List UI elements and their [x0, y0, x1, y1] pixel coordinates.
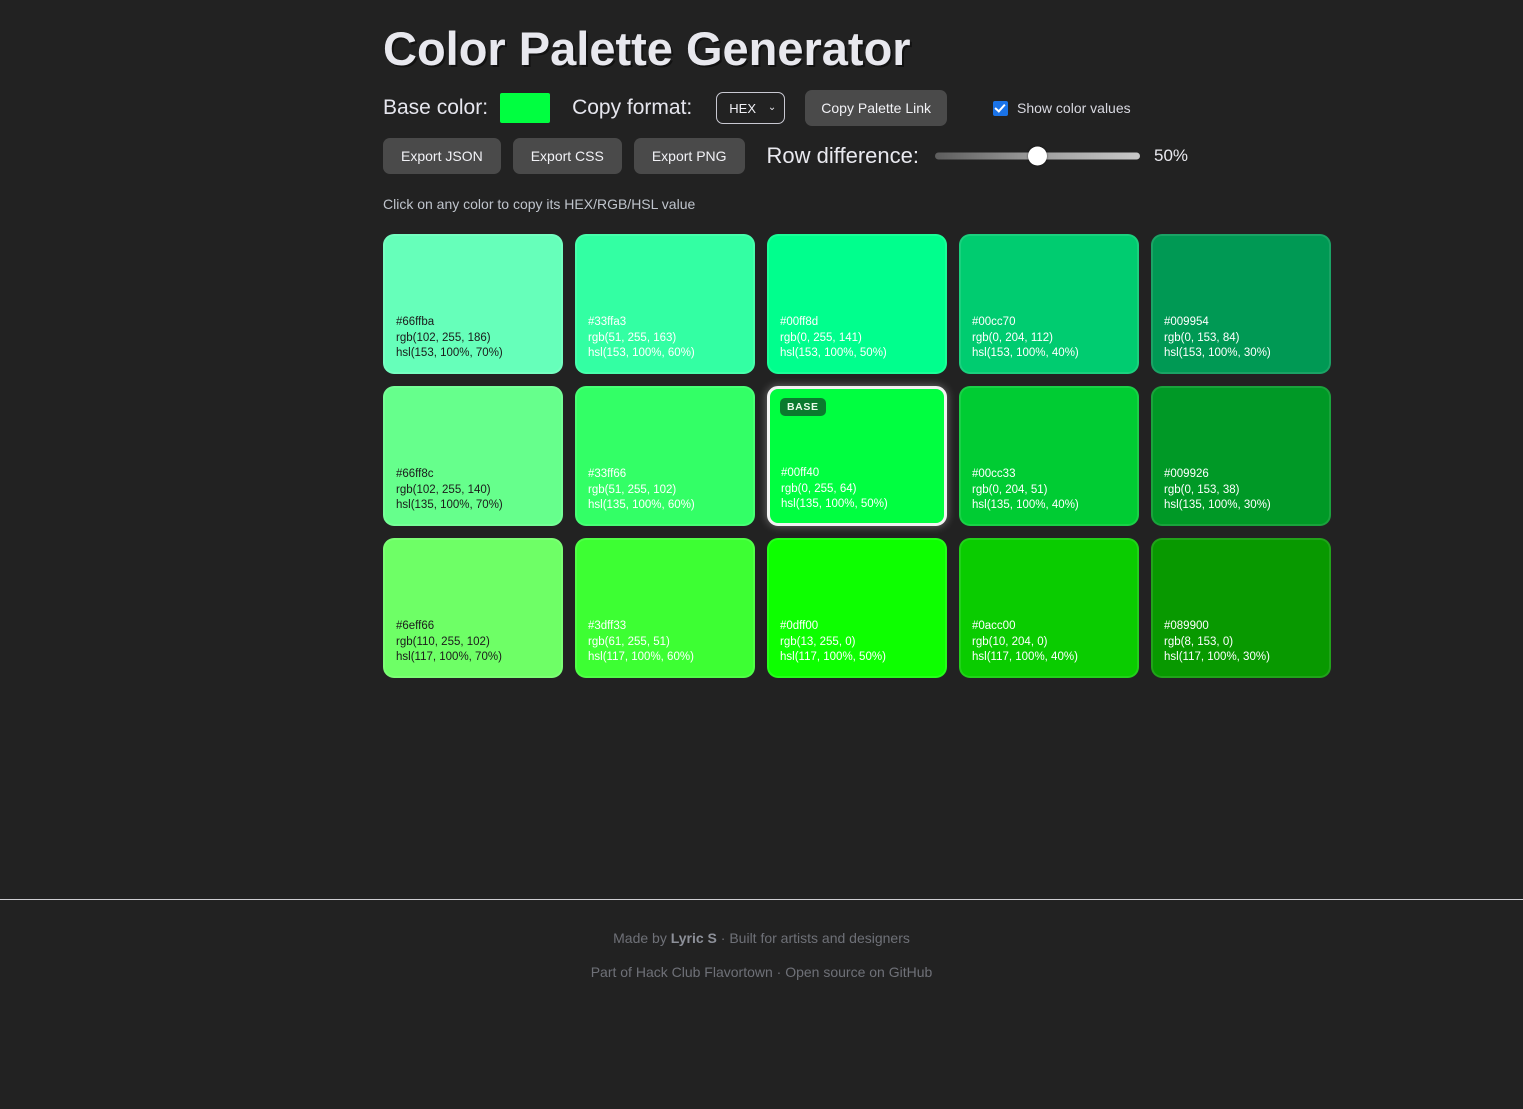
- swatch-hex-value: #33ffa3: [588, 315, 742, 331]
- swatch-values: #00cc70rgb(0, 204, 112)hsl(153, 100%, 40…: [972, 315, 1126, 362]
- swatch-rgb-value: rgb(0, 255, 141): [780, 331, 934, 347]
- swatch-rgb-value: rgb(0, 204, 112): [972, 331, 1126, 347]
- swatch-values: #0dff00rgb(13, 255, 0)hsl(117, 100%, 50%…: [780, 619, 934, 666]
- footer-divider: [0, 899, 1523, 900]
- color-swatch[interactable]: #0acc00rgb(10, 204, 0)hsl(117, 100%, 40%…: [959, 538, 1139, 678]
- show-color-values-group[interactable]: Show color values: [993, 100, 1131, 116]
- swatch-values: #009954rgb(0, 153, 84)hsl(153, 100%, 30%…: [1164, 315, 1318, 362]
- copy-palette-link-button[interactable]: Copy Palette Link: [805, 90, 947, 126]
- swatch-values: #3dff33rgb(61, 255, 51)hsl(117, 100%, 60…: [588, 619, 742, 666]
- swatch-values: #66ffbargb(102, 255, 186)hsl(153, 100%, …: [396, 315, 550, 362]
- swatch-rgb-value: rgb(10, 204, 0): [972, 635, 1126, 651]
- swatch-hsl-value: hsl(117, 100%, 60%): [588, 650, 742, 666]
- swatch-hex-value: #66ff8c: [396, 467, 550, 483]
- controls-row-primary: Base color: Copy format: HEXRGBHSL ⌄ Cop…: [383, 90, 1523, 126]
- swatch-hsl-value: hsl(117, 100%, 30%): [1164, 650, 1318, 666]
- swatch-hex-value: #6eff66: [396, 619, 550, 635]
- swatch-hsl-value: hsl(153, 100%, 60%): [588, 346, 742, 362]
- base-color-picker[interactable]: [500, 93, 550, 123]
- swatch-hex-value: #00cc70: [972, 315, 1126, 331]
- swatch-hex-value: #00cc33: [972, 467, 1126, 483]
- copy-format-select[interactable]: HEXRGBHSL: [716, 92, 785, 124]
- color-swatch[interactable]: #33ffa3rgb(51, 255, 163)hsl(153, 100%, 6…: [575, 234, 755, 374]
- swatch-values: #66ff8crgb(102, 255, 140)hsl(135, 100%, …: [396, 467, 550, 514]
- show-color-values-checkbox[interactable]: [993, 101, 1008, 116]
- footer-author: Lyric S: [671, 930, 717, 946]
- swatch-hsl-value: hsl(153, 100%, 70%): [396, 346, 550, 362]
- row-difference-slider[interactable]: [935, 145, 1140, 167]
- copy-format-label: Copy format:: [572, 96, 692, 120]
- swatch-values: #6eff66rgb(110, 255, 102)hsl(117, 100%, …: [396, 619, 550, 666]
- swatch-values: #33ffa3rgb(51, 255, 163)hsl(153, 100%, 6…: [588, 315, 742, 362]
- swatch-hsl-value: hsl(117, 100%, 40%): [972, 650, 1126, 666]
- footer-project-line: Part of Hack Club Flavortown · Open sour…: [0, 964, 1523, 980]
- color-swatch[interactable]: #00cc70rgb(0, 204, 112)hsl(153, 100%, 40…: [959, 234, 1139, 374]
- swatch-hsl-value: hsl(135, 100%, 50%): [781, 497, 933, 513]
- footer-credit-prefix: Made by: [613, 930, 671, 946]
- swatch-rgb-value: rgb(102, 255, 186): [396, 331, 550, 347]
- swatch-values: #33ff66rgb(51, 255, 102)hsl(135, 100%, 6…: [588, 467, 742, 514]
- color-swatch[interactable]: #0dff00rgb(13, 255, 0)hsl(117, 100%, 50%…: [767, 538, 947, 678]
- color-swatch[interactable]: #6eff66rgb(110, 255, 102)hsl(117, 100%, …: [383, 538, 563, 678]
- swatch-hsl-value: hsl(135, 100%, 60%): [588, 498, 742, 514]
- swatch-values: #009926rgb(0, 153, 38)hsl(135, 100%, 30%…: [1164, 467, 1318, 514]
- swatch-rgb-value: rgb(102, 255, 140): [396, 483, 550, 499]
- swatch-rgb-value: rgb(51, 255, 163): [588, 331, 742, 347]
- swatch-hsl-value: hsl(135, 100%, 40%): [972, 498, 1126, 514]
- swatch-values: #0acc00rgb(10, 204, 0)hsl(117, 100%, 40%…: [972, 619, 1126, 666]
- swatch-values: #00ff40rgb(0, 255, 64)hsl(135, 100%, 50%…: [781, 466, 933, 513]
- footer: Made by Lyric S · Built for artists and …: [0, 930, 1523, 998]
- color-swatch[interactable]: #00cc33rgb(0, 204, 51)hsl(135, 100%, 40%…: [959, 386, 1139, 526]
- base-badge: BASE: [780, 398, 826, 416]
- show-color-values-label: Show color values: [1017, 100, 1131, 116]
- app-root: Color Palette Generator Base color: Copy…: [0, 0, 1523, 1109]
- swatch-rgb-value: rgb(0, 153, 38): [1164, 483, 1318, 499]
- swatch-values: #089900rgb(8, 153, 0)hsl(117, 100%, 30%): [1164, 619, 1318, 666]
- color-swatch[interactable]: #33ff66rgb(51, 255, 102)hsl(135, 100%, 6…: [575, 386, 755, 526]
- swatch-hsl-value: hsl(153, 100%, 30%): [1164, 346, 1318, 362]
- swatch-hex-value: #009954: [1164, 315, 1318, 331]
- export-json-button[interactable]: Export JSON: [383, 138, 501, 174]
- export-css-button[interactable]: Export CSS: [513, 138, 622, 174]
- export-png-button[interactable]: Export PNG: [634, 138, 745, 174]
- swatch-hex-value: #33ff66: [588, 467, 742, 483]
- color-swatch[interactable]: #66ff8crgb(102, 255, 140)hsl(135, 100%, …: [383, 386, 563, 526]
- swatch-hex-value: #009926: [1164, 467, 1318, 483]
- swatch-hsl-value: hsl(135, 100%, 30%): [1164, 498, 1318, 514]
- swatch-hsl-value: hsl(153, 100%, 40%): [972, 346, 1126, 362]
- swatch-hsl-value: hsl(153, 100%, 50%): [780, 346, 934, 362]
- footer-credit-line: Made by Lyric S · Built for artists and …: [0, 930, 1523, 946]
- footer-credit-suffix: · Built for artists and designers: [717, 930, 910, 946]
- color-swatch[interactable]: #66ffbargb(102, 255, 186)hsl(153, 100%, …: [383, 234, 563, 374]
- color-swatch[interactable]: #089900rgb(8, 153, 0)hsl(117, 100%, 30%): [1151, 538, 1331, 678]
- swatch-rgb-value: rgb(110, 255, 102): [396, 635, 550, 651]
- color-swatch[interactable]: #009954rgb(0, 153, 84)hsl(153, 100%, 30%…: [1151, 234, 1331, 374]
- copy-format-select-wrap: HEXRGBHSL ⌄: [710, 92, 785, 124]
- swatch-rgb-value: rgb(51, 255, 102): [588, 483, 742, 499]
- swatch-hex-value: #66ffba: [396, 315, 550, 331]
- base-color-label: Base color:: [383, 96, 488, 120]
- swatch-hsl-value: hsl(135, 100%, 70%): [396, 498, 550, 514]
- swatch-hsl-value: hsl(117, 100%, 50%): [780, 650, 934, 666]
- swatch-values: #00cc33rgb(0, 204, 51)hsl(135, 100%, 40%…: [972, 467, 1126, 514]
- color-swatch[interactable]: #00ff8drgb(0, 255, 141)hsl(153, 100%, 50…: [767, 234, 947, 374]
- swatch-rgb-value: rgb(0, 204, 51): [972, 483, 1126, 499]
- swatch-rgb-value: rgb(61, 255, 51): [588, 635, 742, 651]
- page-title: Color Palette Generator: [383, 22, 1523, 76]
- copy-hint-text: Click on any color to copy its HEX/RGB/H…: [383, 196, 1523, 212]
- color-swatch[interactable]: BASE#00ff40rgb(0, 255, 64)hsl(135, 100%,…: [767, 386, 947, 526]
- swatch-hex-value: #00ff8d: [780, 315, 934, 331]
- row-difference-value: 50%: [1154, 146, 1188, 166]
- swatch-values: #00ff8drgb(0, 255, 141)hsl(153, 100%, 50…: [780, 315, 934, 362]
- color-swatch[interactable]: #009926rgb(0, 153, 38)hsl(135, 100%, 30%…: [1151, 386, 1331, 526]
- swatch-rgb-value: rgb(0, 255, 64): [781, 482, 933, 498]
- slider-thumb[interactable]: [1028, 147, 1047, 166]
- swatch-hsl-value: hsl(117, 100%, 70%): [396, 650, 550, 666]
- swatch-hex-value: #0acc00: [972, 619, 1126, 635]
- swatch-rgb-value: rgb(13, 255, 0): [780, 635, 934, 651]
- swatch-rgb-value: rgb(8, 153, 0): [1164, 635, 1318, 651]
- swatch-hex-value: #00ff40: [781, 466, 933, 482]
- swatch-hex-value: #0dff00: [780, 619, 934, 635]
- color-swatch[interactable]: #3dff33rgb(61, 255, 51)hsl(117, 100%, 60…: [575, 538, 755, 678]
- palette-grid: #66ffbargb(102, 255, 186)hsl(153, 100%, …: [383, 234, 1523, 678]
- row-difference-label: Row difference:: [767, 143, 919, 169]
- main-content: Color Palette Generator Base color: Copy…: [0, 0, 1523, 678]
- swatch-hex-value: #3dff33: [588, 619, 742, 635]
- swatch-rgb-value: rgb(0, 153, 84): [1164, 331, 1318, 347]
- swatch-hex-value: #089900: [1164, 619, 1318, 635]
- controls-row-secondary: Export JSON Export CSS Export PNG Row di…: [383, 138, 1523, 174]
